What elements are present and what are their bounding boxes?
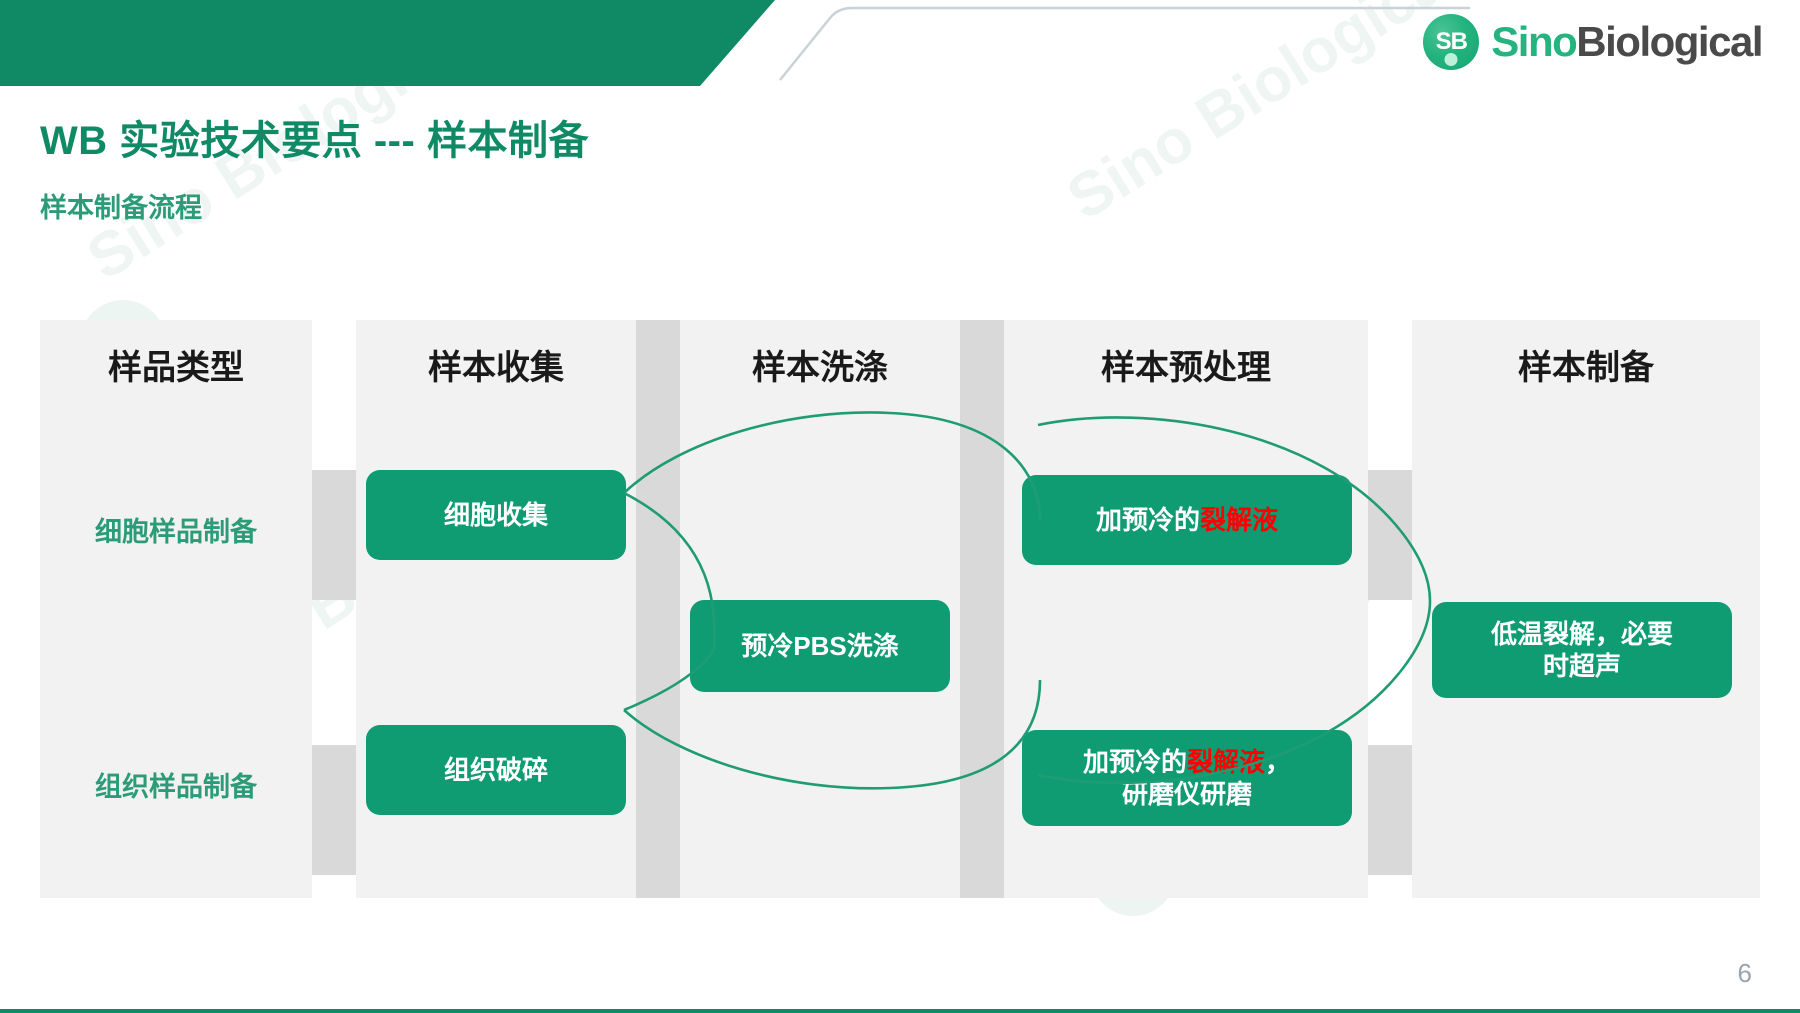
page-title: WB 实验技术要点 --- 样本制备 bbox=[40, 108, 589, 166]
gap-block bbox=[312, 745, 356, 875]
column-header-sample-type: 样品类型 bbox=[40, 338, 312, 390]
node-label-accent: 裂解液 bbox=[1187, 747, 1265, 777]
node-label: 组织破碎 bbox=[444, 754, 548, 787]
node-lysis-cell[interactable]: 加预冷的裂解液 bbox=[1022, 475, 1352, 565]
column-header-sample-pretreat: 样本预处理 bbox=[1004, 338, 1368, 390]
gap-block bbox=[1368, 745, 1412, 875]
gap-block bbox=[636, 320, 680, 898]
column-header-sample-wash: 样本洗涤 bbox=[680, 338, 960, 390]
section-subtitle: 样本制备流程 bbox=[40, 186, 202, 225]
node-label-line1: 低温裂解，必要 bbox=[1491, 619, 1673, 649]
node-label: 细胞收集 bbox=[444, 499, 548, 532]
footer-rule bbox=[0, 1009, 1800, 1013]
node-cold-lysis[interactable]: 低温裂解，必要 时超声 bbox=[1432, 602, 1732, 698]
node-label-accent: 裂解液 bbox=[1200, 505, 1278, 535]
header-banner bbox=[0, 0, 775, 86]
node-label: 加预冷的 bbox=[1083, 747, 1187, 777]
node-cell-collect[interactable]: 细胞收集 bbox=[366, 470, 626, 560]
node-label: 加预冷的 bbox=[1096, 505, 1200, 535]
row-label-tissue-sample: 组织样品制备 bbox=[40, 760, 312, 808]
brand-name-biological: Biological bbox=[1576, 18, 1762, 66]
node-label-line2: 研磨仪研磨 bbox=[1122, 779, 1252, 809]
sb-logo-icon: SB bbox=[1423, 14, 1479, 70]
column-header-sample-prepare: 样本制备 bbox=[1412, 338, 1760, 390]
node-tissue-crush[interactable]: 组织破碎 bbox=[366, 725, 626, 815]
node-label-tail: ， bbox=[1265, 747, 1291, 777]
sb-logo-text: SB bbox=[1436, 28, 1467, 56]
gap-block bbox=[1368, 470, 1412, 600]
gap-block bbox=[960, 320, 1004, 898]
node-label: 预冷PBS洗涤 bbox=[741, 630, 898, 663]
brand-logo: SB Sino Biological bbox=[1423, 14, 1762, 70]
node-pbs-wash[interactable]: 预冷PBS洗涤 bbox=[690, 600, 950, 692]
row-label-cell-sample: 细胞样品制备 bbox=[40, 505, 312, 553]
page-number: 6 bbox=[1738, 958, 1752, 989]
brand-name-sino: Sino bbox=[1491, 18, 1576, 66]
column-header-sample-collect: 样本收集 bbox=[356, 338, 636, 390]
node-label-line2: 时超声 bbox=[1543, 651, 1621, 681]
column-band-0 bbox=[40, 320, 312, 898]
node-lysis-tissue[interactable]: 加预冷的裂解液， 研磨仪研磨 bbox=[1022, 730, 1352, 826]
gap-block bbox=[312, 470, 356, 600]
